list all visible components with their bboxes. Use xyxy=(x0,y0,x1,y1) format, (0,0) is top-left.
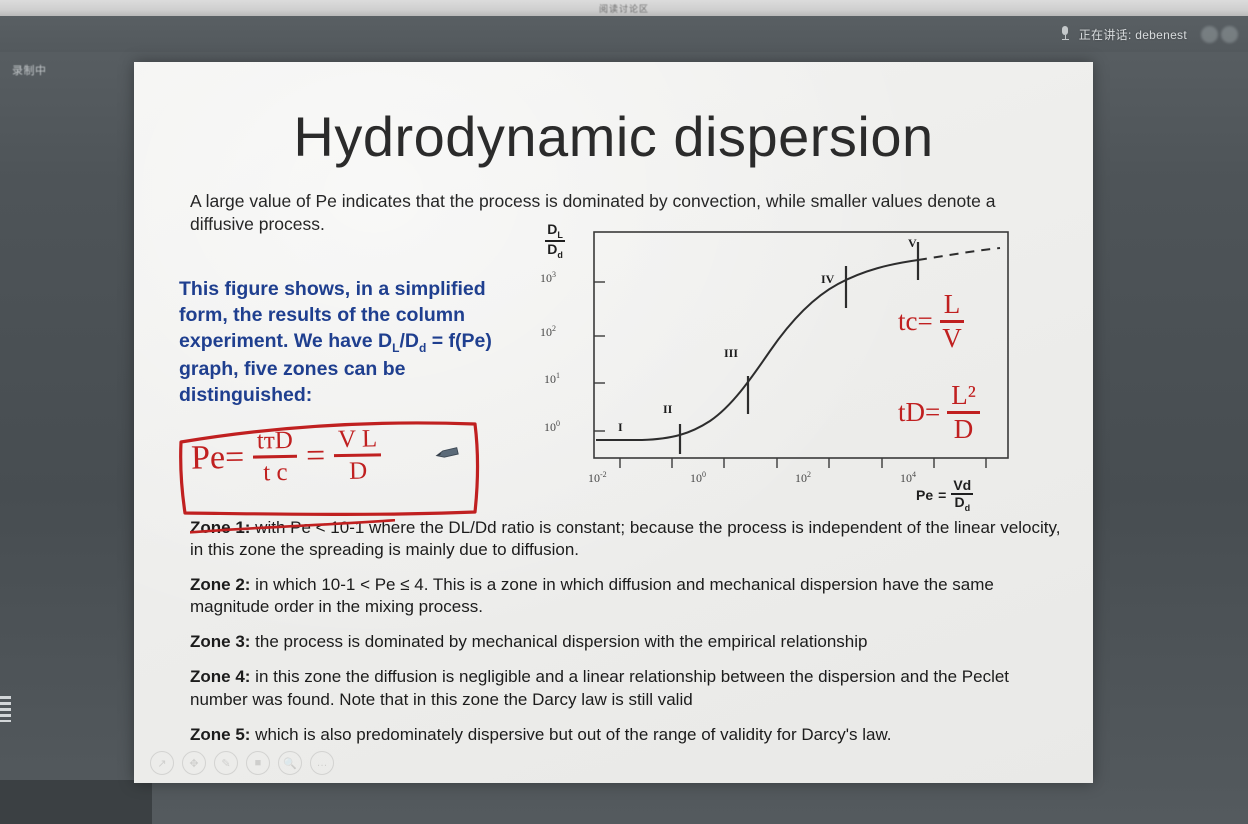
chart-x-axis-label: Pe = Vd Dd xyxy=(916,478,973,513)
chart-zone-label-3: III xyxy=(724,346,738,361)
slide-annotation-toolbar[interactable]: ↗ ✥ ✎ ■ 🔍 … xyxy=(150,751,334,775)
zone-label: Zone 1: xyxy=(190,518,250,537)
highlighter-icon[interactable]: ■ xyxy=(246,751,270,775)
chart-zone-label-1: I xyxy=(618,420,623,435)
zone-paragraph: Zone 2: in which 10-1 < Pe ≤ 4. This is … xyxy=(190,574,1070,618)
chart-zone-label-2: II xyxy=(663,402,672,417)
red-tD-formula: tD= L² D xyxy=(898,382,980,443)
zone-label: Zone 3: xyxy=(190,632,250,651)
zone-label: Zone 4: xyxy=(190,667,250,686)
pointer-icon[interactable]: ↗ xyxy=(150,751,174,775)
chart-y-numerator: DL xyxy=(545,222,565,242)
chart-zone-label-5: V xyxy=(908,236,917,251)
chart-y-tick-1: 101 xyxy=(544,371,560,387)
bottom-left-panel xyxy=(0,780,152,824)
pen-icon[interactable]: ✎ xyxy=(214,751,238,775)
chart-y-tick-2: 102 xyxy=(540,324,556,340)
chart-x-denominator: Dd xyxy=(954,494,970,510)
top-strip-title: 阅读讨论区 xyxy=(599,2,649,15)
zone-text: the process is dominated by mechanical d… xyxy=(250,632,867,651)
zone-label: Zone 2: xyxy=(190,575,250,594)
zone-text: with Pe < 10-1 where the DL/Dd ratio is … xyxy=(190,518,1060,559)
active-speaker-label: 正在讲话: debenest xyxy=(1079,26,1187,43)
top-strip: 阅读讨论区 xyxy=(0,0,1248,16)
zoom-in-icon[interactable]: 🔍 xyxy=(278,751,302,775)
chart-zone-label-4: IV xyxy=(821,272,834,287)
chart-x-numerator: Vd xyxy=(951,478,973,495)
zone-text: which is also predominately dispersive b… xyxy=(250,725,891,744)
avatar[interactable] xyxy=(1201,26,1218,43)
zone-paragraph: Zone 1: with Pe < 10-1 where the DL/Dd r… xyxy=(190,517,1070,561)
zone-paragraph: Zone 4: in this zone the diffusion is ne… xyxy=(190,666,1070,710)
zone-label: Zone 5: xyxy=(190,725,250,744)
chart-x-tick-2: 102 xyxy=(795,470,811,486)
chart-y-tick-0: 100 xyxy=(544,419,560,435)
recording-status-badge: 录制中 xyxy=(12,62,47,78)
zone-descriptions: Zone 1: with Pe < 10-1 where the DL/Dd r… xyxy=(190,517,1070,759)
chart-y-tick-3: 103 xyxy=(540,270,556,286)
active-speaker-indicator: 正在讲话: debenest xyxy=(1061,26,1187,43)
red-pe-formula-text: Pe= tтD t c = V L D xyxy=(191,426,382,486)
slide-title: Hydrodynamic dispersion xyxy=(134,104,1093,169)
more-icon[interactable]: … xyxy=(310,751,334,775)
left-edge-panel-handle[interactable] xyxy=(0,696,11,722)
red-pe-formula-annotation: Pe= tтD t c = V L D xyxy=(175,414,493,519)
red-pe-lhs: Pe= xyxy=(191,438,245,477)
red-pe-eq: = xyxy=(306,437,326,475)
microphone-icon xyxy=(1061,26,1070,42)
zone-text: in this zone the diffusion is negligible… xyxy=(190,667,1009,708)
avatar[interactable] xyxy=(1221,26,1238,43)
slide-blue-note: This figure shows, in a simplified form,… xyxy=(179,277,509,409)
red-pe-frac-2: V L D xyxy=(334,426,382,484)
red-pe-frac-1: tтD t c xyxy=(253,428,298,486)
pan-icon[interactable]: ✥ xyxy=(182,751,206,775)
red-time-formulas-annotation: tc= L V tD= L² D xyxy=(898,291,980,473)
chart-x-tick-0: 100 xyxy=(690,470,706,486)
presentation-slide: Hydrodynamic dispersion A large value of… xyxy=(134,62,1093,783)
zone-paragraph: Zone 5: which is also predominately disp… xyxy=(190,724,1070,746)
chart-y-denominator: Dd xyxy=(547,241,563,257)
meeting-top-bar: 正在讲话: debenest xyxy=(0,16,1248,52)
chart-x-axis-eq: = xyxy=(938,487,946,503)
chart-y-axis-label: DL Dd xyxy=(538,222,572,260)
zone-paragraph: Zone 3: the process is dominated by mech… xyxy=(190,631,1070,653)
zone-text: in which 10-1 < Pe ≤ 4. This is a zone i… xyxy=(190,575,994,616)
participant-avatars[interactable] xyxy=(1201,26,1238,43)
chart-x-axis-name: Pe xyxy=(916,487,933,503)
red-tc-formula: tc= L V xyxy=(898,291,980,352)
chart-x-tick-m2: 10-2 xyxy=(588,470,607,486)
